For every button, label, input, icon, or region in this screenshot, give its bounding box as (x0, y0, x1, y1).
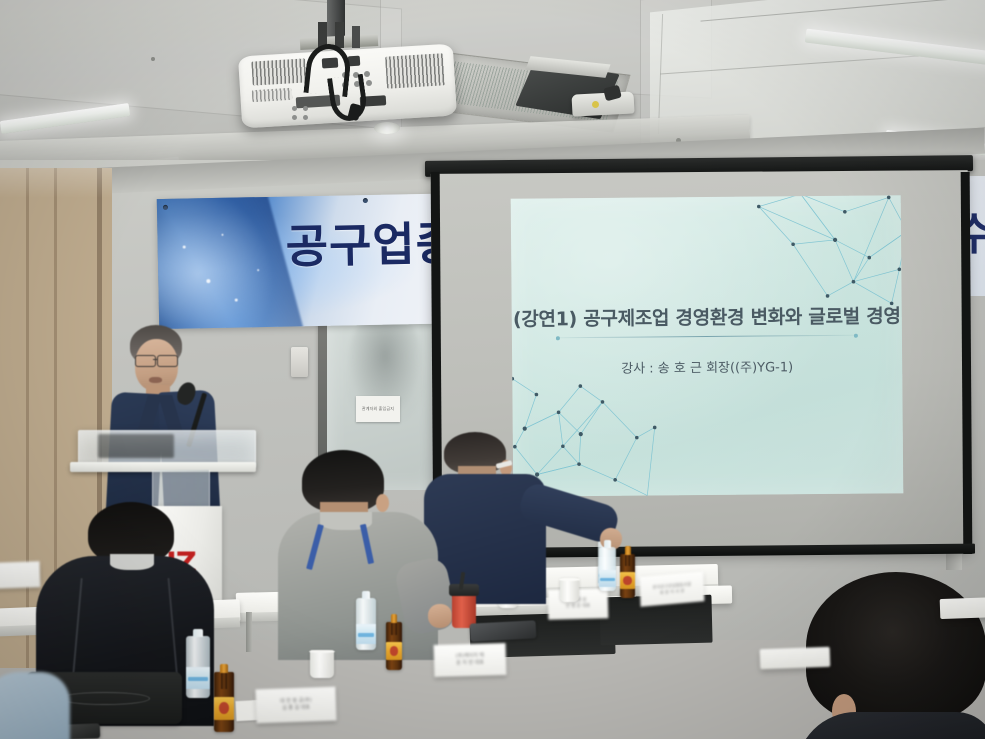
table-right-far (760, 647, 831, 669)
bottled-water (599, 547, 616, 591)
wood-panel-highlight (0, 168, 112, 198)
audience-shoulder-light-blue (0, 672, 70, 739)
name-card-line2: 윤 지 만 대표 (456, 660, 484, 668)
ceiling-speaker (571, 91, 634, 116)
bottle-neck (221, 673, 228, 689)
bottle-label (620, 572, 634, 589)
projector-vent (385, 53, 445, 88)
audience-hand (428, 604, 452, 628)
door-notice-sign: 관계자외 출입금지 (356, 396, 400, 422)
brown-beverage-bottle (386, 622, 402, 670)
bottle-label-stripe (600, 578, 614, 581)
ceiling-screw (151, 57, 155, 61)
bottle-cap (220, 664, 228, 673)
bottle-label (599, 570, 616, 587)
banner-grommet (163, 205, 168, 210)
speaker-led (592, 101, 599, 108)
bottle-label (386, 642, 401, 660)
slide-subtitle: 강사 : 송 호 근 회장((주)YG-1) (512, 355, 902, 377)
name-card (0, 561, 40, 589)
banner-sparkle (257, 269, 259, 271)
projector-mount-arm (335, 22, 344, 48)
brown-beverage-bottle (620, 554, 635, 598)
name-card: (주)케이지 텍 윤 지 만 대표 (434, 643, 507, 677)
event-banner: 공구업종 (157, 193, 477, 329)
bottle-label-stripe (358, 633, 375, 637)
bottle-label (356, 624, 376, 644)
projector-vent (252, 88, 293, 102)
audience-ear (376, 494, 389, 512)
slide-title: (강연1) 공구제조업 경영환경 변화와 글로벌 경영 (512, 301, 902, 331)
table-right-far (940, 597, 985, 619)
bottle-cap (391, 614, 397, 623)
foreground-hair (806, 572, 985, 722)
name-card-line2: 김 종 길 대표 (282, 705, 310, 713)
bottle-cap (625, 546, 631, 555)
audience-foreground-right (806, 572, 985, 739)
banner-grommet (363, 198, 368, 203)
cup-lid (449, 584, 479, 596)
audience-grey-shirt-lanyard (272, 450, 482, 660)
bottled-water (186, 636, 210, 698)
presenter-glasses (135, 355, 156, 367)
lectern-equipment (98, 434, 174, 458)
name-card-line2: 회 장 이 사 장 (660, 588, 685, 596)
tablet-device (470, 620, 537, 641)
paper-cup (310, 650, 334, 678)
projector-knob (364, 71, 370, 77)
presenter-glasses-bridge (153, 359, 158, 360)
bottle-neck (391, 623, 396, 635)
slide-divider-rule (558, 335, 856, 339)
table-leg (246, 612, 252, 652)
bottled-water (356, 598, 376, 650)
projector-knob (303, 115, 308, 120)
name-card-line2: 안 병 준 대표 (566, 604, 591, 611)
foreground-shoulder (796, 712, 985, 739)
projector-knob (303, 106, 308, 111)
presenter-glasses (157, 355, 178, 367)
presenter-mouth (149, 377, 162, 383)
door-card-reader (291, 347, 308, 377)
bottle-label-stripe (188, 677, 208, 682)
projector-knob (292, 115, 297, 120)
banner-sparkle (206, 279, 210, 283)
recessed-downlight (374, 122, 400, 134)
projector-knob (366, 80, 372, 86)
name-card: 한국공구공업협동조합 회 장 이 사 장 (640, 571, 705, 607)
projector-mount-arm (352, 26, 360, 48)
bottle-neck (625, 555, 630, 566)
bottle-label (214, 697, 233, 720)
bottle-label (186, 667, 210, 689)
wood-panel-seam (26, 168, 29, 668)
name-card: 대 한 정 공(주) 김 종 길 대표 (255, 687, 336, 724)
projector-knob (292, 106, 297, 111)
suit-collar (110, 554, 154, 570)
projector-vent (251, 58, 306, 85)
brown-beverage-bottle (214, 672, 234, 732)
conference-room-photo: 관계자외 출입금지 공구업종 수 (0, 0, 985, 739)
